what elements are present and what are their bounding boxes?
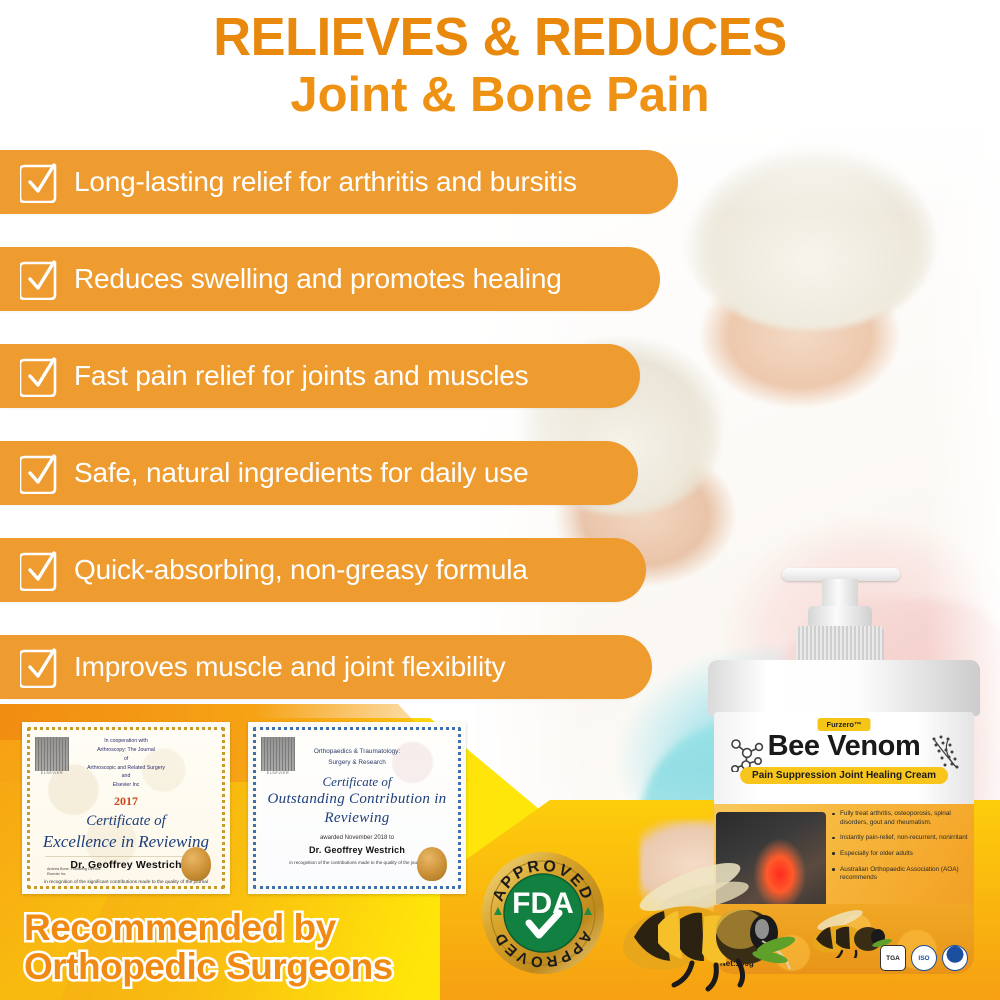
headline: RELIEVES & REDUCES Joint & Bone Pain xyxy=(0,10,1000,123)
benefit-list: Long-lasting relief for arthritis and bu… xyxy=(0,150,700,732)
pump-shoulder xyxy=(808,606,872,628)
pump-neck xyxy=(822,579,858,609)
label-upper: Furzero™ Bee Venom Pain Suppression Join… xyxy=(714,712,974,804)
product-benefit-item: Instantly pain-relief, non-recurrent, no… xyxy=(832,834,972,843)
certificate-outstanding: ELSEVIER Orthopaedics & Traumatology: Su… xyxy=(248,722,466,894)
product-benefit-item: Australian Orthopaedic Association (AOA)… xyxy=(832,866,972,883)
certificate-title: Certificate of Excellence in Reviewing xyxy=(33,812,219,852)
certification-badges: TGA ISO xyxy=(880,945,968,971)
check-square-icon xyxy=(20,161,60,203)
recommendation-line-1: Recommended by xyxy=(24,909,393,947)
certificate-excellence: ELSEVIER In cooperation with Arthroscopy… xyxy=(22,722,230,894)
tga-badge: TGA xyxy=(880,945,906,971)
check-square-icon xyxy=(20,549,60,591)
product-ad-page: RELIEVES & REDUCES Joint & Bone Pain Lon… xyxy=(0,0,1000,1000)
benefit-label: Long-lasting relief for arthritis and bu… xyxy=(74,166,577,198)
benefit-label: Quick-absorbing, non-greasy formula xyxy=(74,554,528,586)
benefit-item: Fast pain relief for joints and muscles xyxy=(0,344,640,408)
headline-line-1: RELIEVES & REDUCES xyxy=(15,10,985,65)
fda-approved-badge: APPROVED APPROVED FDA xyxy=(481,851,605,975)
product-benefit-item: Fully treat arthritis, osteoporosis, spi… xyxy=(832,810,972,827)
benefit-item: Long-lasting relief for arthritis and bu… xyxy=(0,150,678,214)
benefit-item: Improves muscle and joint flexibility xyxy=(0,635,652,699)
certificate-seal-icon xyxy=(417,847,447,881)
elsevier-logo-icon xyxy=(261,737,295,771)
pump-collar xyxy=(796,626,884,664)
check-square-icon xyxy=(20,258,60,300)
benefit-label: Improves muscle and joint flexibility xyxy=(74,651,505,683)
benefit-item: Reduces swelling and promotes healing xyxy=(0,247,660,311)
certificate-year: 2017 xyxy=(33,794,219,809)
certificate-title-line-1: Certificate of xyxy=(323,774,392,789)
benefit-label: Fast pain relief for joints and muscles xyxy=(74,360,528,392)
benefit-item: Safe, natural ingredients for daily use xyxy=(0,441,638,505)
product-benefit-item: Especially for older adults xyxy=(832,850,972,859)
elsevier-logo-icon xyxy=(35,737,69,771)
benefit-label: Safe, natural ingredients for daily use xyxy=(74,457,528,489)
headline-line-2: Joint & Bone Pain xyxy=(0,69,1000,123)
certificate-seal-icon xyxy=(181,847,211,881)
fda-center-text: FDA xyxy=(512,887,574,920)
certificate-awarded-date: awarded November 2018 to xyxy=(259,835,455,841)
honeybee-icon xyxy=(612,845,827,995)
australian-badge xyxy=(942,945,968,971)
check-square-icon xyxy=(20,646,60,688)
certificate-title-line-2: Outstanding Contribution in Reviewing xyxy=(259,790,455,828)
product-title: Bee Venom xyxy=(714,730,974,763)
recommendation-text: Recommended by Orthopedic Surgeons xyxy=(24,909,393,986)
product-tagline: Pain Suppression Joint Healing Cream xyxy=(740,767,948,784)
check-square-icon xyxy=(20,355,60,397)
iso-badge: ISO xyxy=(911,945,937,971)
benefit-item: Quick-absorbing, non-greasy formula xyxy=(0,538,646,602)
certificate-signature: Andrew Bone, Publishing Director Elsevie… xyxy=(47,867,101,879)
certificate-title: Certificate of Outstanding Contribution … xyxy=(259,774,455,828)
product-benefit-list: Fully treat arthritis, osteoporosis, spi… xyxy=(832,810,972,890)
certificate-content: ELSEVIER Orthopaedics & Traumatology: Su… xyxy=(259,733,455,883)
recommendation-line-2: Orthopedic Surgeons xyxy=(24,948,393,986)
jar-cap xyxy=(708,660,980,716)
elsevier-label: ELSEVIER xyxy=(33,771,71,775)
certificate-title-line-1: Certificate of xyxy=(86,813,166,829)
benefit-label: Reduces swelling and promotes healing xyxy=(74,263,562,295)
certificate-footer: in recognition of the significant contri… xyxy=(33,880,219,887)
check-square-icon xyxy=(20,452,60,494)
certificate-content: ELSEVIER In cooperation with Arthroscopy… xyxy=(33,733,219,883)
elsevier-label: ELSEVIER xyxy=(259,771,297,775)
